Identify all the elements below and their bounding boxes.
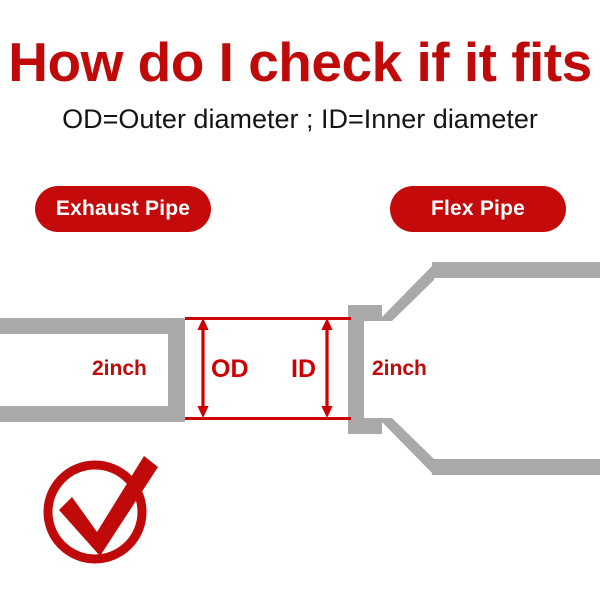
badge-flex-pipe-label: Flex Pipe xyxy=(431,197,525,221)
exhaust-pipe-bottom-wall xyxy=(0,406,185,422)
page-title: How do I check if it fits xyxy=(0,34,600,92)
flex-pipe-body-bottom-wall xyxy=(432,459,600,475)
flex-pipe-body-top-wall xyxy=(432,262,600,278)
exhaust-pipe-top-wall xyxy=(0,318,185,334)
check-mark-icon xyxy=(40,450,180,580)
infographic-canvas: How do I check if it fits OD=Outer diame… xyxy=(0,0,600,600)
flex-pipe-size-label: 2inch xyxy=(372,357,427,381)
od-dimension-label: OD xyxy=(211,355,249,384)
id-dimension-arrow xyxy=(319,318,335,418)
exhaust-pipe-size-label: 2inch xyxy=(92,357,147,381)
page-subtitle: OD=Outer diameter ; ID=Inner diameter xyxy=(0,105,600,135)
flex-pipe-neck-left-wall xyxy=(348,305,364,434)
badge-exhaust-pipe-label: Exhaust Pipe xyxy=(56,197,190,221)
badge-flex-pipe: Flex Pipe xyxy=(390,186,566,232)
id-dimension-label: ID xyxy=(291,355,316,384)
badge-exhaust-pipe: Exhaust Pipe xyxy=(35,186,211,232)
exhaust-pipe-end-cap xyxy=(168,318,185,422)
od-dimension-arrow xyxy=(195,318,211,418)
